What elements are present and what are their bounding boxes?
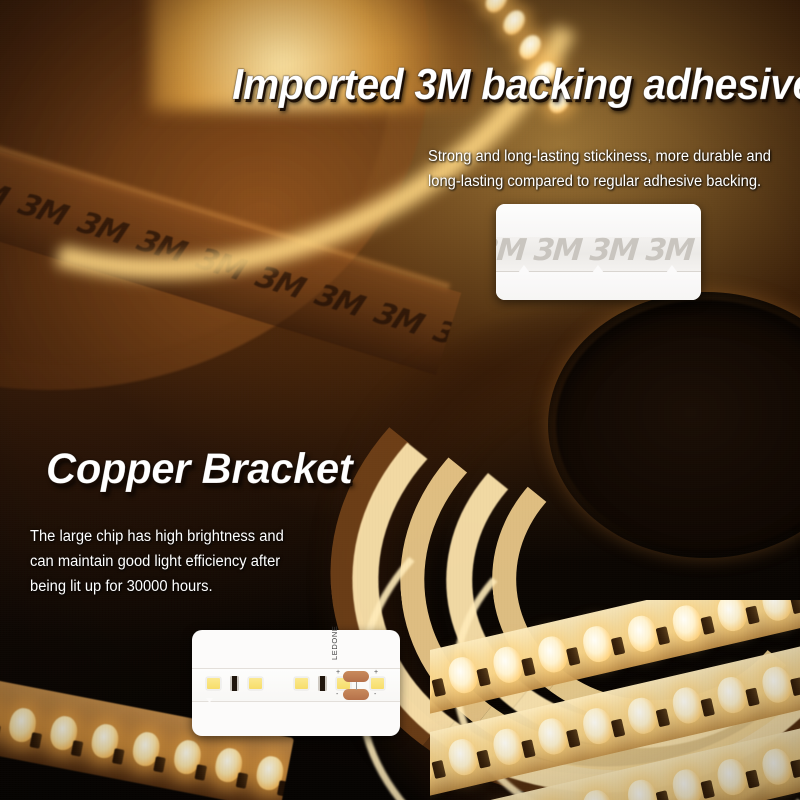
adhesive-logo-mark: 3M: [588, 237, 638, 268]
resistor: [0, 724, 1, 741]
led-dot: [670, 603, 705, 644]
adhesive-card-top: [496, 204, 701, 237]
pcb-cut-notch: [206, 663, 213, 668]
copper-headline: Copper Bracket: [46, 445, 353, 494]
copper-body-line-2: can maintain good light efficiency after: [30, 549, 344, 574]
resistor: [700, 780, 715, 799]
resistor: [194, 764, 207, 781]
resistor: [790, 759, 800, 778]
adhesive-logo-mark: 3M: [369, 296, 427, 342]
led-dot: [535, 634, 570, 675]
pcb-resistor: [230, 676, 239, 691]
pcb-polarity-mark: -: [374, 691, 376, 698]
led-dot: [445, 736, 480, 777]
adhesive-headline: Imported 3M backing adhesive: [232, 60, 800, 110]
led-dot: [515, 31, 545, 63]
resistor: [656, 708, 671, 727]
led-dot: [759, 600, 794, 623]
resistor: [521, 739, 536, 758]
led-dot: [714, 600, 749, 634]
adhesive-body-line-2: long-lasting compared to regular adhesiv…: [428, 169, 789, 194]
pcb-polarity-mark: -: [336, 691, 338, 698]
resistor: [566, 647, 581, 666]
led-dot: [670, 685, 705, 726]
resistor: [432, 760, 447, 779]
resistor: [700, 698, 715, 717]
copper-body-text: The large chip has high brightness and c…: [30, 524, 344, 599]
led-dot: [490, 644, 525, 685]
pcb-brand-label: LEDONE: [330, 626, 339, 660]
led-dot: [535, 716, 570, 757]
adhesive-logo-mark: 3M: [644, 237, 694, 268]
resistor: [566, 729, 581, 748]
adhesive-card-bottom: [496, 272, 701, 300]
adhesive-tape-inset-card: 3M3M3M3M3M: [496, 204, 701, 300]
resistor: [153, 756, 166, 773]
adhesive-logo-mark: 3M: [700, 237, 701, 268]
adhesive-body-text: Strong and long-lasting stickiness, more…: [428, 144, 789, 194]
resistor: [236, 772, 249, 789]
resistor: [611, 719, 626, 738]
led-dot: [759, 746, 794, 787]
resistor: [745, 688, 760, 707]
pcb-solder-pad: [343, 671, 369, 682]
resistor: [476, 668, 491, 687]
resistor: [432, 678, 447, 697]
resistor: [745, 770, 760, 789]
led-dot: [714, 756, 749, 797]
pcb-cut-line: [356, 682, 357, 690]
resistor: [112, 748, 125, 765]
resistor: [790, 677, 800, 696]
led-dot: [490, 726, 525, 767]
resistor: [790, 600, 800, 614]
resistor: [700, 616, 715, 635]
pcb-led-chip: [248, 677, 263, 690]
adhesive-logo-mark: 3M: [532, 237, 582, 268]
resistor: [656, 790, 671, 800]
resistor: [30, 732, 43, 749]
led-dot: [580, 705, 615, 746]
adhesive-logo-mark: 3M: [310, 278, 368, 324]
pcb-led-chip: [294, 677, 309, 690]
resistor: [71, 740, 84, 757]
pcb-strip-body: ++--: [192, 668, 400, 702]
pcb-led-chip: [206, 677, 221, 690]
led-dot: [580, 623, 615, 664]
led-dot: [625, 613, 660, 654]
led-dot: [625, 695, 660, 736]
adhesive-body-line-1: Strong and long-lasting stickiness, more…: [428, 144, 789, 169]
led-dot: [580, 787, 615, 800]
resistor: [745, 606, 760, 625]
adhesive-logo-mark: 3M: [496, 237, 526, 268]
resistor: [611, 637, 626, 656]
pcb-led-chip: [370, 677, 385, 690]
led-dot: [625, 777, 660, 800]
copper-body-line-1: The large chip has high brightness and: [30, 524, 344, 549]
led-strip-bottom-right: [430, 600, 800, 800]
pcb-solder-pad: [343, 689, 369, 700]
copper-body-line-3: being lit up for 30000 hours.: [30, 574, 344, 599]
product-banner: 3M3M3M3M3M3M3M3M3M Imported 3M backing a…: [0, 0, 800, 800]
pcb-inset-card: ++--: [192, 630, 400, 736]
pcb-polarity-mark: +: [374, 669, 378, 676]
led-dot: [670, 767, 705, 800]
resistor: [656, 626, 671, 645]
led-dot: [445, 654, 480, 695]
led-dot: [759, 664, 794, 705]
pcb-resistor: [318, 676, 327, 691]
led-dot: [499, 7, 529, 39]
led-dot: [714, 674, 749, 715]
resistor: [521, 657, 536, 676]
resistor: [476, 750, 491, 769]
pcb-polarity-mark: +: [336, 669, 340, 676]
